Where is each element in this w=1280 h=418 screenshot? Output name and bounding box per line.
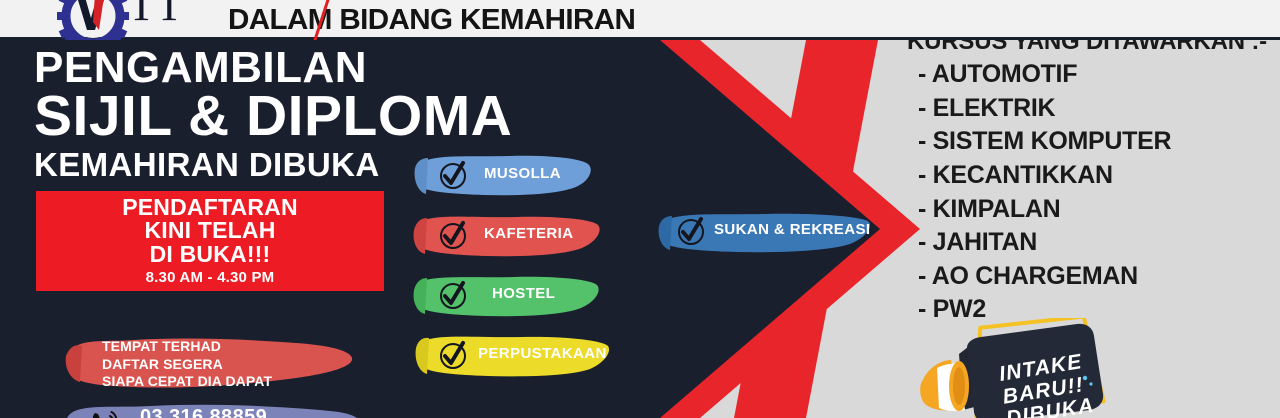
facility-label: KAFETERIA bbox=[484, 225, 573, 242]
course-item: - JAHITAN bbox=[918, 226, 1171, 260]
courses-panel: KURSUS YANG DITAWARKAN :- - AUTOMOTIF - … bbox=[895, 0, 1280, 418]
header-strip: TT BERPENGALAMAN LEBIH 10 TAHUN DALAM BI… bbox=[0, 0, 1280, 40]
courses-list: - AUTOMOTIF - ELEKTRIK - SISTEM KOMPUTER… bbox=[918, 58, 1171, 327]
facility-item-musolla: MUSOLLA bbox=[412, 152, 592, 198]
contact-callout: 03 316 88859 PN NITHIYA - 018-2930724 PN… bbox=[62, 398, 382, 418]
course-item: - ELEKTRIK bbox=[918, 92, 1171, 126]
course-item: - KECANTIKKAN bbox=[918, 159, 1171, 193]
facility-item-perpustakaan: PERPUSTAKAAN bbox=[412, 332, 612, 378]
facilities-list: MUSOLLA KAFETERIA HOSTEL bbox=[0, 0, 800, 378]
check-circle-icon bbox=[438, 160, 468, 190]
check-circle-icon bbox=[676, 216, 706, 246]
facility-label: PERPUSTAKAAN bbox=[478, 345, 607, 362]
phone-icon bbox=[91, 410, 117, 418]
contact-phone-number[interactable]: 03 316 88859 bbox=[140, 406, 267, 418]
header-tagline-line1: BERPENGALAMAN LEBIH 10 TAHUN bbox=[228, 0, 942, 3]
facility-label: SUKAN & REKREASI bbox=[714, 221, 870, 238]
megaphone-icon bbox=[915, 318, 1165, 418]
header-tagline-line2: DALAM BIDANG KEMAHIRAN bbox=[228, 6, 942, 35]
megaphone-badge: INTAKE BARU!! DIBUKA bbox=[915, 318, 1165, 418]
course-item: - SISTEM KOMPUTER bbox=[918, 125, 1171, 159]
check-circle-icon bbox=[438, 220, 468, 250]
header-tagline: BERPENGALAMAN LEBIH 10 TAHUN DALAM BIDAN… bbox=[228, 0, 928, 35]
gear-w-logo bbox=[55, 0, 131, 40]
facility-label: HOSTEL bbox=[492, 285, 555, 302]
logo-wordmark: TT bbox=[128, 0, 184, 31]
promotional-banner: TT BERPENGALAMAN LEBIH 10 TAHUN DALAM BI… bbox=[0, 0, 1280, 418]
facility-label: MUSOLLA bbox=[484, 165, 561, 182]
course-item: - AO CHARGEMAN bbox=[918, 260, 1171, 294]
facility-item-sukan-rekreasi: SUKAN & REKREASI bbox=[658, 208, 873, 254]
course-item: - AUTOMOTIF bbox=[918, 58, 1171, 92]
check-circle-icon bbox=[438, 280, 468, 310]
check-circle-icon bbox=[438, 340, 468, 370]
course-item: - KIMPALAN bbox=[918, 193, 1171, 227]
facility-item-hostel: HOSTEL bbox=[412, 272, 602, 318]
facility-item-kafeteria: KAFETERIA bbox=[412, 212, 602, 258]
header-divider-rule bbox=[0, 37, 1280, 40]
